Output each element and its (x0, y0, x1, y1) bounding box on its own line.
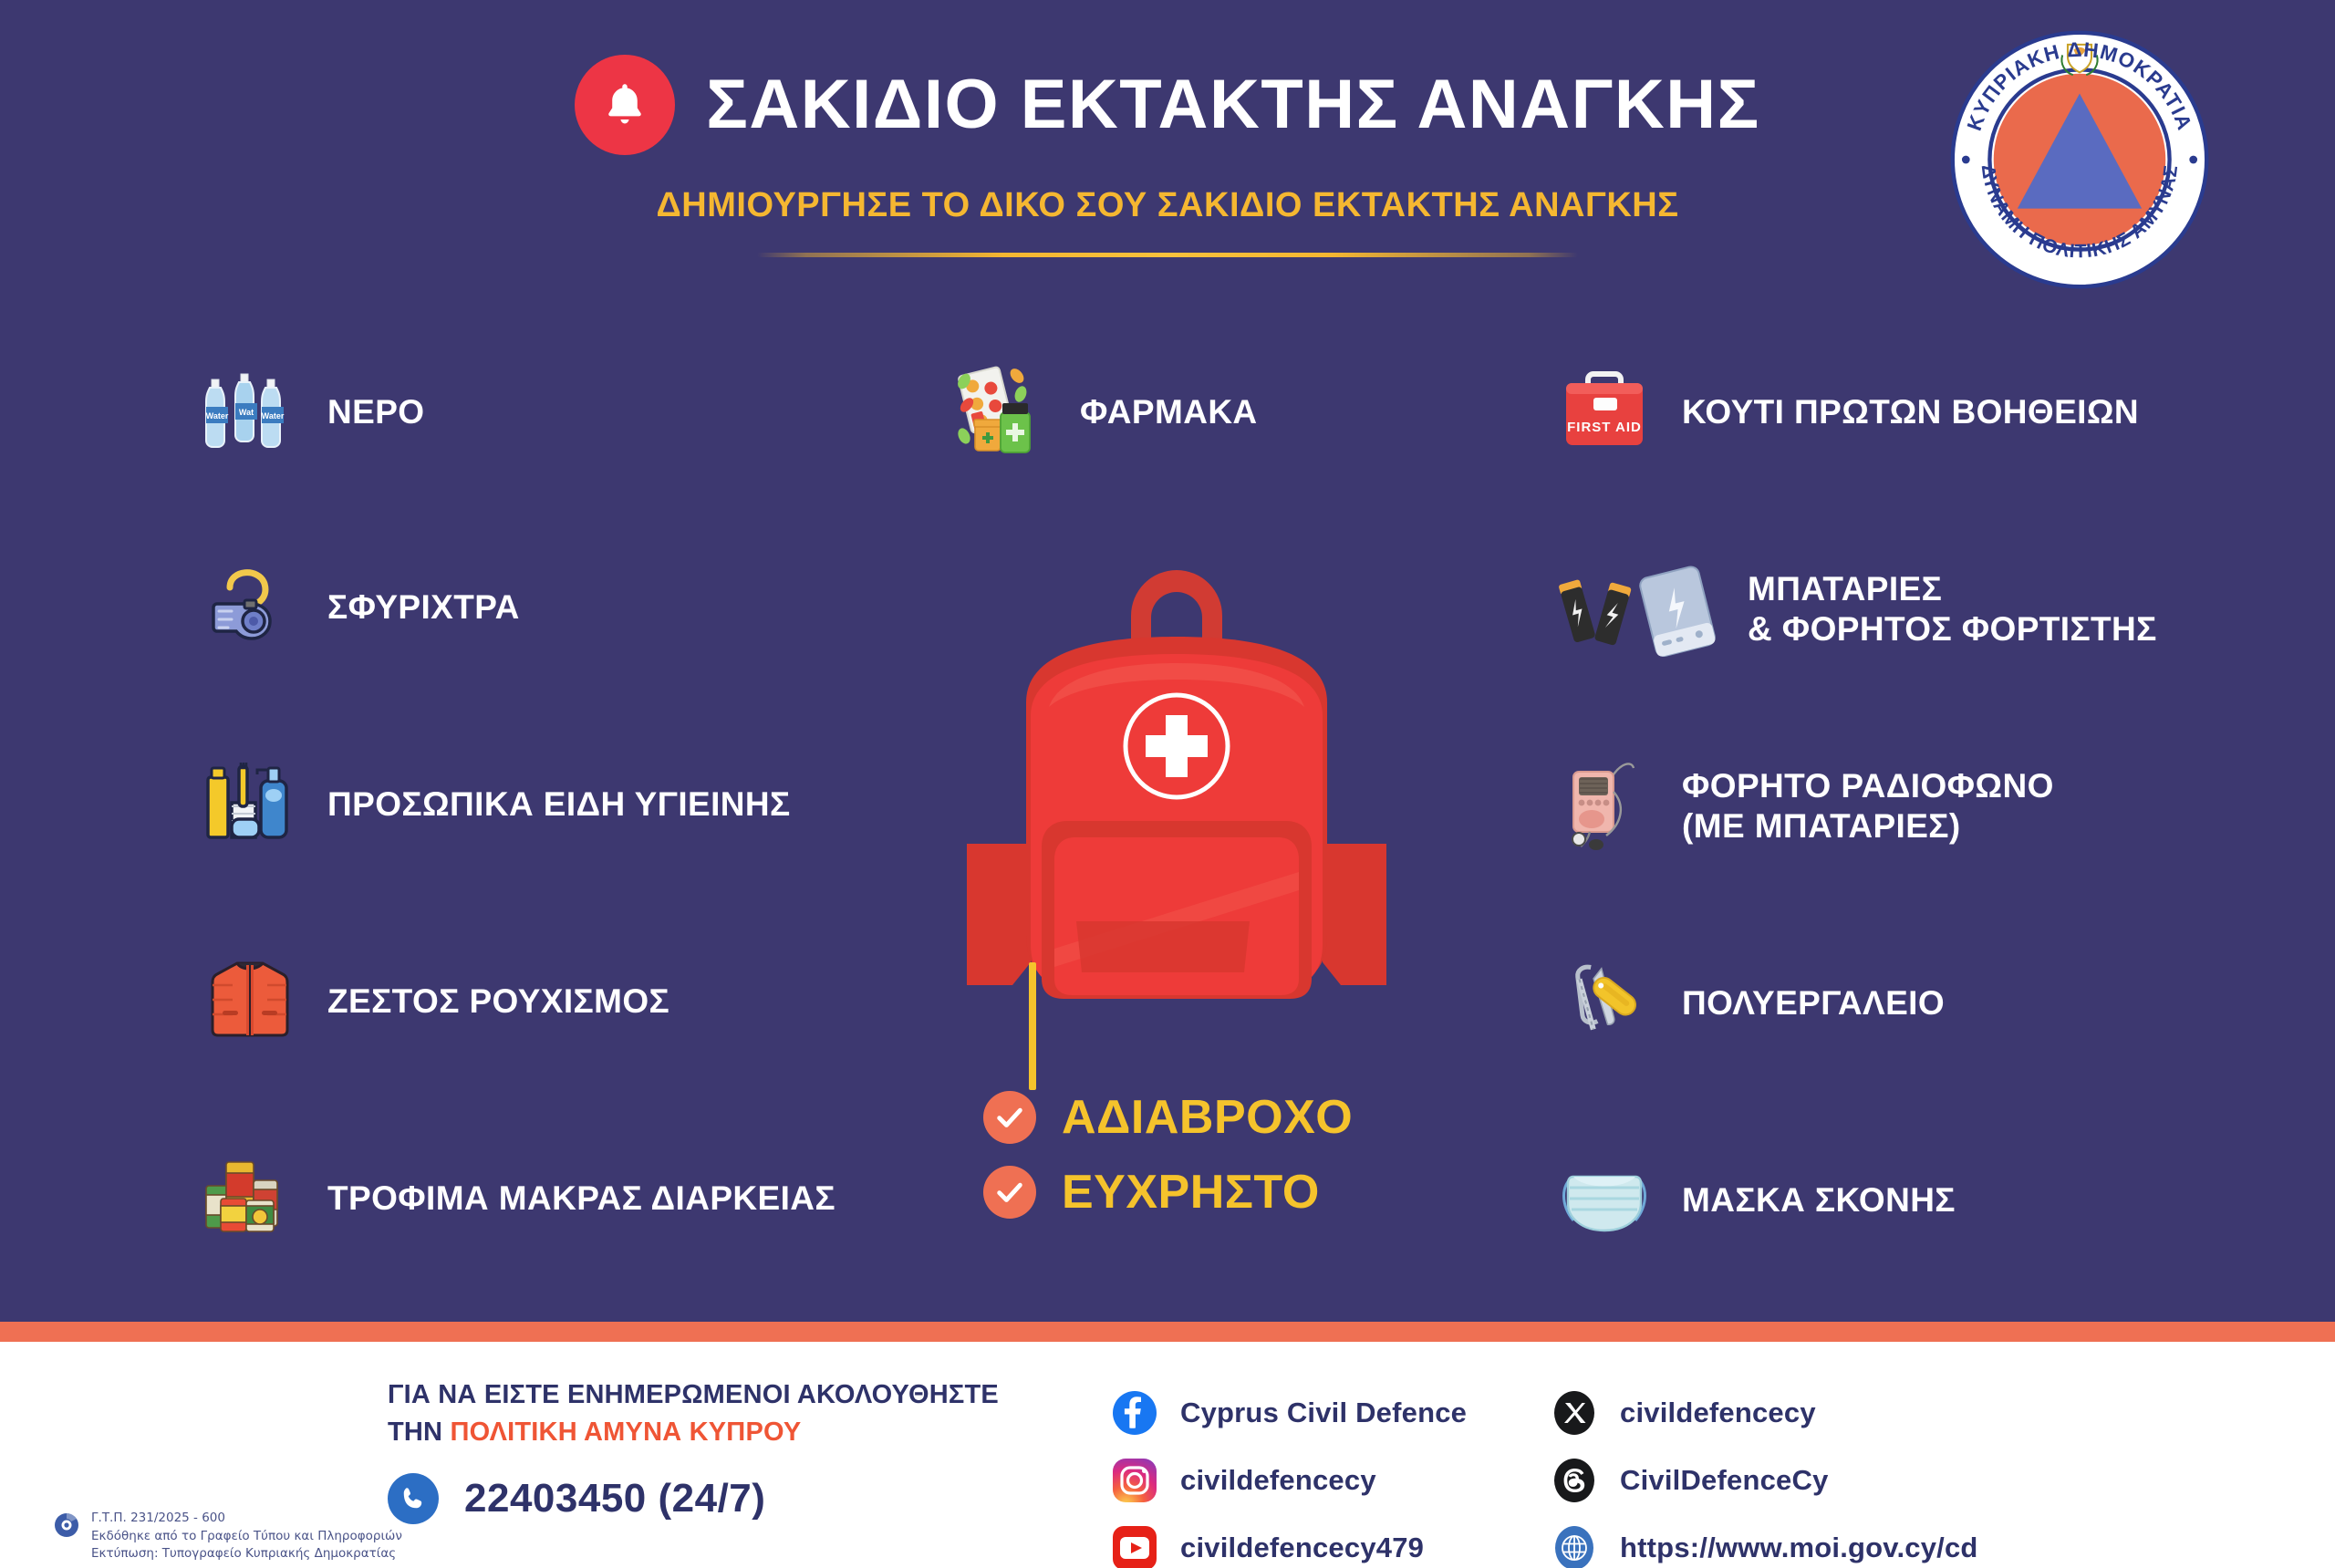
imprint-block: Γ.Τ.Π. 231/2025 - 600 Εκδόθηκε από το Γρ… (53, 1510, 402, 1563)
list-item-label-line1: ΦΟΡΗΤΟ ΡΑΔΙΟΦΩΝΟ (1682, 766, 2054, 806)
feature-checklist: ΑΔΙΑΒΡΟΧΟ ΕΥΧΡΗΣΤΟ (983, 1090, 1353, 1220)
list-item: ΕΥΧΡΗΣΤΟ (983, 1165, 1353, 1220)
page-title: ΣΑΚΙΔΙΟ ΕΚΤΑΚΤΗΣ ΑΝΑΓΚΗΣ (706, 70, 1760, 140)
list-item-label: ΚΟΥΤΙ ΠΡΩΤΩΝ ΒΟΗΘΕΙΩΝ (1682, 392, 2139, 432)
svg-text:FIRST AID: FIRST AID (1567, 420, 1642, 435)
list-item-label: ΜΠΑΤΑΡΙΕΣ & ΦΟΡΗΤΟΣ ΦΟΡΤΙΣΤΗΣ (1748, 569, 2157, 649)
hygiene-items-icon (196, 751, 304, 858)
list-item: ΑΔΙΑΒΡΟΧΟ (983, 1090, 1353, 1145)
threads-icon (1551, 1457, 1598, 1504)
bell-icon (575, 55, 675, 155)
list-item-label: ΤΡΟΦΙΜΑ ΜΑΚΡΑΣ ΔΙΑΡΚΕΙΑΣ (327, 1179, 835, 1219)
check-icon (983, 1166, 1036, 1219)
website-globe-icon (1551, 1524, 1598, 1568)
list-item: ΣΦΥΡΙΧΤΡΑ (196, 549, 953, 666)
social-link-facebook[interactable]: Cyprus Civil Defence (1111, 1389, 1467, 1437)
imprint-text: Γ.Τ.Π. 231/2025 - 600 Εκδόθηκε από το Γρ… (91, 1510, 402, 1563)
social-link-threads[interactable]: CivilDefenceCy (1551, 1457, 1978, 1504)
social-handle: Cyprus Civil Defence (1180, 1397, 1467, 1429)
list-item-label: ΜΑΣΚΑ ΣΚΟΝΗΣ (1682, 1180, 1956, 1220)
phone-number: 22403450 (24/7) (464, 1476, 765, 1521)
list-item-label-line2: & ΦΟΡΗΤΟΣ ΦΟΡΤΙΣΤΗΣ (1748, 609, 2157, 649)
list-item-label: ΠΡΟΣΩΠΙΚΑ ΕΙΔΗ ΥΓΙΕΙΝΗΣ (327, 784, 791, 825)
svg-text:Wat: Wat (239, 408, 254, 417)
civil-defence-emblem: ΚΥΠΡΙΑΚΗ ΔΗΜΟΚΡΑΤΙΑ ΔΥΝΑΜΗ ΠΟΛΙΤΙΚΗΣ ΑΜΥ… (1947, 27, 2212, 292)
imprint-line-1: Γ.Τ.Π. 231/2025 - 600 (91, 1510, 402, 1528)
canned-food-icon (196, 1145, 304, 1252)
follow-line-1: ΓΙΑ ΝΑ ΕΙΣΤΕ ΕΝΗΜΕΡΩΜΕΝΟΙ ΑΚΟΛΟΥΘΗΣΤΕ (388, 1376, 1044, 1414)
first-aid-kit-icon: FIRST AID (1551, 358, 1658, 466)
social-link-youtube[interactable]: civildefencecy479 (1111, 1524, 1467, 1568)
list-item-label: ΦΑΡΜΑΚΑ (1080, 392, 1258, 432)
multitool-icon (1551, 950, 1658, 1057)
batteries-powerbank-icon (1551, 556, 1724, 663)
social-handle: https://www.moi.gov.cy/cd (1620, 1532, 1978, 1564)
social-handle: CivilDefenceCy (1620, 1464, 1829, 1497)
instagram-icon (1111, 1457, 1158, 1504)
emergency-kit-infographic: ΣΑΚΙΔΙΟ ΕΚΤΑΚΤΗΣ ΑΝΑΓΚΗΣ ΔΗΜΙΟΥΡΓΗΣΕ ΤΟ … (0, 0, 2335, 1568)
check-icon (983, 1091, 1036, 1144)
orange-separator-band (0, 1322, 2335, 1342)
list-item: FIRST AID ΚΟΥΤΙ ΠΡΩΤΩΝ ΒΟΗΘΕΙΩΝ (1551, 354, 2308, 471)
gold-divider (757, 253, 1578, 257)
svg-text:Water: Water (206, 411, 229, 421)
social-link-instagram[interactable]: civildefencecy (1111, 1457, 1467, 1504)
list-item: ΜΠΑΤΑΡΙΕΣ & ΦΟΡΗΤΟΣ ΦΟΡΤΙΣΤΗΣ (1551, 551, 2308, 668)
list-item: ΤΡΟΦΙΜΑ ΜΑΚΡΑΣ ΔΙΑΡΚΕΙΑΣ (196, 1140, 953, 1257)
list-item-label-line1: ΜΑΣΚΑ ΣΚΟΝΗΣ (1682, 1181, 1956, 1219)
follow-block: ΓΙΑ ΝΑ ΕΙΣΤΕ ΕΝΗΜΕΡΩΜΕΝΟΙ ΑΚΟΛΟΥΘΗΣΤΕ ΤΗ… (388, 1376, 1044, 1524)
left-item-column: Water Wat Water (196, 354, 953, 1322)
social-links-right: civildefencecy CivilDefenceCy (1551, 1389, 1978, 1568)
warm-jacket-icon (196, 948, 304, 1055)
list-item: ΠΟΛΥΕΡΓΑΛΕΙΟ (1551, 945, 2308, 1062)
social-handle: civildefencecy (1180, 1464, 1376, 1497)
checklist-label: ΑΔΙΑΒΡΟΧΟ (1062, 1090, 1353, 1145)
follow-accent: ΠΟΛΙΤΙΚΗ ΑΜΥΝΑ ΚΥΠΡΟΥ (450, 1417, 801, 1447)
list-item: Water Wat Water (196, 354, 953, 471)
portable-radio-icon (1551, 753, 1658, 860)
list-item: ΦΑΡΜΑΚΑ (949, 354, 1642, 471)
water-bottles-icon: Water Wat Water (196, 358, 304, 466)
social-link-website[interactable]: https://www.moi.gov.cy/cd (1551, 1524, 1978, 1568)
whistle-icon (196, 554, 304, 661)
list-item: ΜΑΣΚΑ ΣΚΟΝΗΣ (1551, 1142, 2308, 1259)
list-item-label: ΠΟΛΥΕΡΓΑΛΕΙΟ (1682, 983, 1945, 1023)
list-item-label: ΖΕΣΤΟΣ ΡΟΥΧΙΣΜΟΣ (327, 981, 669, 1022)
list-item: ΠΡΟΣΩΠΙΚΑ ΕΙΔΗ ΥΓΙΕΙΝΗΣ (196, 746, 953, 863)
list-item-label: ΦΟΡΗΤΟ ΡΑΔΙΟΦΩΝΟ (ΜΕ ΜΠΑΤΑΡΙΕΣ) (1682, 766, 2054, 846)
right-item-column: FIRST AID ΚΟΥΤΙ ΠΡΩΤΩΝ ΒΟΗΘΕΙΩΝ (1551, 354, 2308, 1322)
list-item: ΦΟΡΗΤΟ ΡΑΔΙΟΦΩΝΟ (ΜΕ ΜΠΑΤΑΡΙΕΣ) (1551, 748, 2308, 865)
facebook-icon (1111, 1389, 1158, 1437)
youtube-icon (1111, 1524, 1158, 1568)
list-item-label: ΣΦΥΡΙΧΤΡΑ (327, 587, 520, 628)
dust-mask-icon (1551, 1147, 1658, 1254)
list-item-label-line1: ΜΠΑΤΑΡΙΕΣ (1748, 569, 2157, 609)
emergency-backpack-icon (921, 520, 1432, 1031)
follow-prefix: ΤΗΝ (388, 1417, 450, 1447)
x-twitter-icon (1551, 1389, 1598, 1437)
social-handle: civildefencecy (1620, 1397, 1816, 1429)
list-item-label-line2: (ΜΕ ΜΠΑΤΑΡΙΕΣ) (1682, 806, 2054, 846)
medicine-icon (949, 358, 1056, 466)
social-link-x-twitter[interactable]: civildefencecy (1551, 1389, 1978, 1437)
list-item-label-line1: ΠΟΛΥΕΡΓΑΛΕΙΟ (1682, 984, 1945, 1022)
list-item-label: ΝΕΡΟ (327, 392, 424, 432)
imprint-line-3: Εκτύπωση: Τυπογραφείο Κυπριακής Δημοκρατ… (91, 1545, 402, 1563)
phone-row[interactable]: 22403450 (24/7) (388, 1473, 1044, 1524)
social-links-left: Cyprus Civil Defence (1111, 1389, 1467, 1568)
press-information-office-icon (53, 1511, 80, 1539)
svg-text:Water: Water (262, 411, 285, 421)
main-content-area: ΣΑΚΙΔΙΟ ΕΚΤΑΚΤΗΣ ΑΝΑΓΚΗΣ ΔΗΜΙΟΥΡΓΗΣΕ ΤΟ … (0, 0, 2335, 1322)
checklist-label: ΕΥΧΡΗΣΤΟ (1062, 1165, 1320, 1220)
gold-tick-line (1029, 962, 1036, 1090)
imprint-line-2: Εκδόθηκε από το Γραφείο Τύπου και Πληροφ… (91, 1528, 402, 1546)
list-item: ΖΕΣΤΟΣ ΡΟΥΧΙΣΜΟΣ (196, 943, 953, 1060)
list-item-label-line1: ΚΟΥΤΙ ΠΡΩΤΩΝ ΒΟΗΘΕΙΩΝ (1682, 393, 2139, 431)
follow-line-2: ΤΗΝ ΠΟΛΙΤΙΚΗ ΑΜΥΝΑ ΚΥΠΡΟΥ (388, 1414, 1044, 1451)
social-handle: civildefencecy479 (1180, 1532, 1424, 1564)
